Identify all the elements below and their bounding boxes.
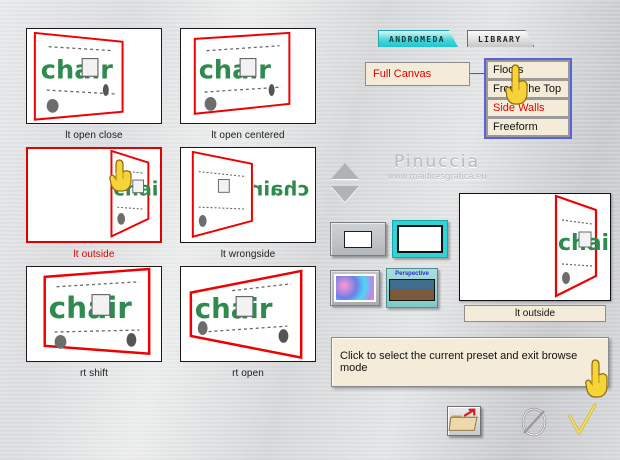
watermark-url: www.maidiresgrafica.eu: [372, 171, 502, 181]
checkmark-icon: [566, 402, 600, 438]
preset-thumbnail[interactable]: chair: [180, 28, 316, 124]
large-preview[interactable]: chair: [459, 193, 611, 301]
preset-cell-rt-shift[interactable]: chair rt shift: [26, 266, 162, 380]
preset-row: chair rt shift chair: [26, 266, 316, 380]
preset-thumbnail-grid: chair lt open close chair: [26, 28, 316, 385]
preset-label: rt shift: [26, 367, 162, 380]
watermark: Pinuccia www.maidiresgrafica.eu: [372, 152, 502, 181]
svg-text:chair: chair: [41, 55, 113, 85]
preset-thumbnail[interactable]: chair: [26, 266, 162, 362]
preset-category-menu: Floors From The Top Side Walls Freeform: [484, 58, 572, 139]
instruction-text: Click to select the current preset and e…: [340, 350, 600, 374]
cancel-button[interactable]: [517, 406, 551, 438]
preset-cell-lt-outside[interactable]: chair lt outside: [26, 147, 162, 261]
open-folder-button[interactable]: [447, 406, 481, 436]
scroll-up-arrow-icon[interactable]: [331, 163, 359, 179]
perspective-artwork: chair: [181, 29, 315, 124]
scroll-down-arrow-icon[interactable]: [331, 186, 359, 202]
image-preview-button[interactable]: [330, 270, 380, 306]
watermark-name: Pinuccia: [372, 152, 502, 172]
tab-library[interactable]: LIBRARY: [467, 30, 535, 47]
preview-artwork: chair: [460, 194, 611, 301]
perspective-artwork: chair: [27, 29, 161, 124]
preview-caption: lt outside: [464, 305, 606, 322]
perspective-preview-caption: Perspective: [389, 271, 435, 278]
preset-cell-rt-open[interactable]: chair rt open: [180, 266, 316, 380]
menu-item-freeform[interactable]: Freeform: [487, 118, 569, 136]
apply-button[interactable]: [566, 402, 600, 438]
perspective-artwork: chair: [28, 149, 160, 242]
perspective-artwork: chair: [181, 267, 315, 362]
perspective-artwork: chair: [181, 148, 315, 243]
svg-text:chair: chair: [195, 292, 273, 325]
tab-bar: ANDROMEDA LIBRARY: [378, 30, 534, 47]
preset-label: rt open: [180, 367, 316, 380]
svg-text:chair: chair: [253, 177, 309, 200]
perspective-thumbnail-icon: [389, 279, 435, 301]
preset-cell-lt-wrongside[interactable]: chair lt wrongside: [180, 147, 316, 261]
menu-item-from-the-top[interactable]: From The Top: [487, 80, 569, 98]
preset-cell-lt-open-close[interactable]: chair lt open close: [26, 28, 162, 142]
perspective-artwork: chair: [27, 267, 161, 362]
folder-open-icon: [448, 407, 480, 435]
preset-label-selected: lt outside: [26, 248, 162, 261]
preset-cell-lt-open-centered[interactable]: chair lt open centered: [180, 28, 316, 142]
preset-label: lt open centered: [180, 129, 316, 142]
small-view-button[interactable]: [330, 222, 386, 256]
tab-andromeda[interactable]: ANDROMEDA: [378, 30, 458, 47]
preset-row: chair lt open close chair: [26, 28, 316, 142]
small-view-icon: [344, 231, 372, 248]
null-circle-slash-icon: [517, 406, 551, 438]
preset-label: lt wrongside: [180, 248, 316, 261]
large-view-button[interactable]: [392, 220, 448, 258]
menu-item-floors[interactable]: Floors: [487, 61, 569, 79]
preset-thumbnail[interactable]: chair: [180, 147, 316, 243]
svg-text:chair: chair: [199, 55, 271, 85]
menu-item-side-walls[interactable]: Side Walls: [487, 99, 569, 117]
preset-label: lt open close: [26, 129, 162, 142]
preset-row: chair lt outside chair: [26, 147, 316, 261]
instruction-box: Click to select the current preset and e…: [331, 337, 609, 387]
category-selector[interactable]: Full Canvas: [365, 62, 470, 86]
svg-text:chair: chair: [49, 291, 133, 325]
preset-thumbnail-selected[interactable]: chair: [26, 147, 162, 243]
perspective-preview-button[interactable]: Perspective: [386, 268, 438, 308]
preset-thumbnail[interactable]: chair: [26, 28, 162, 124]
gradient-thumbnail-icon: [334, 274, 376, 302]
preset-thumbnail[interactable]: chair: [180, 266, 316, 362]
large-view-icon: [397, 225, 443, 253]
